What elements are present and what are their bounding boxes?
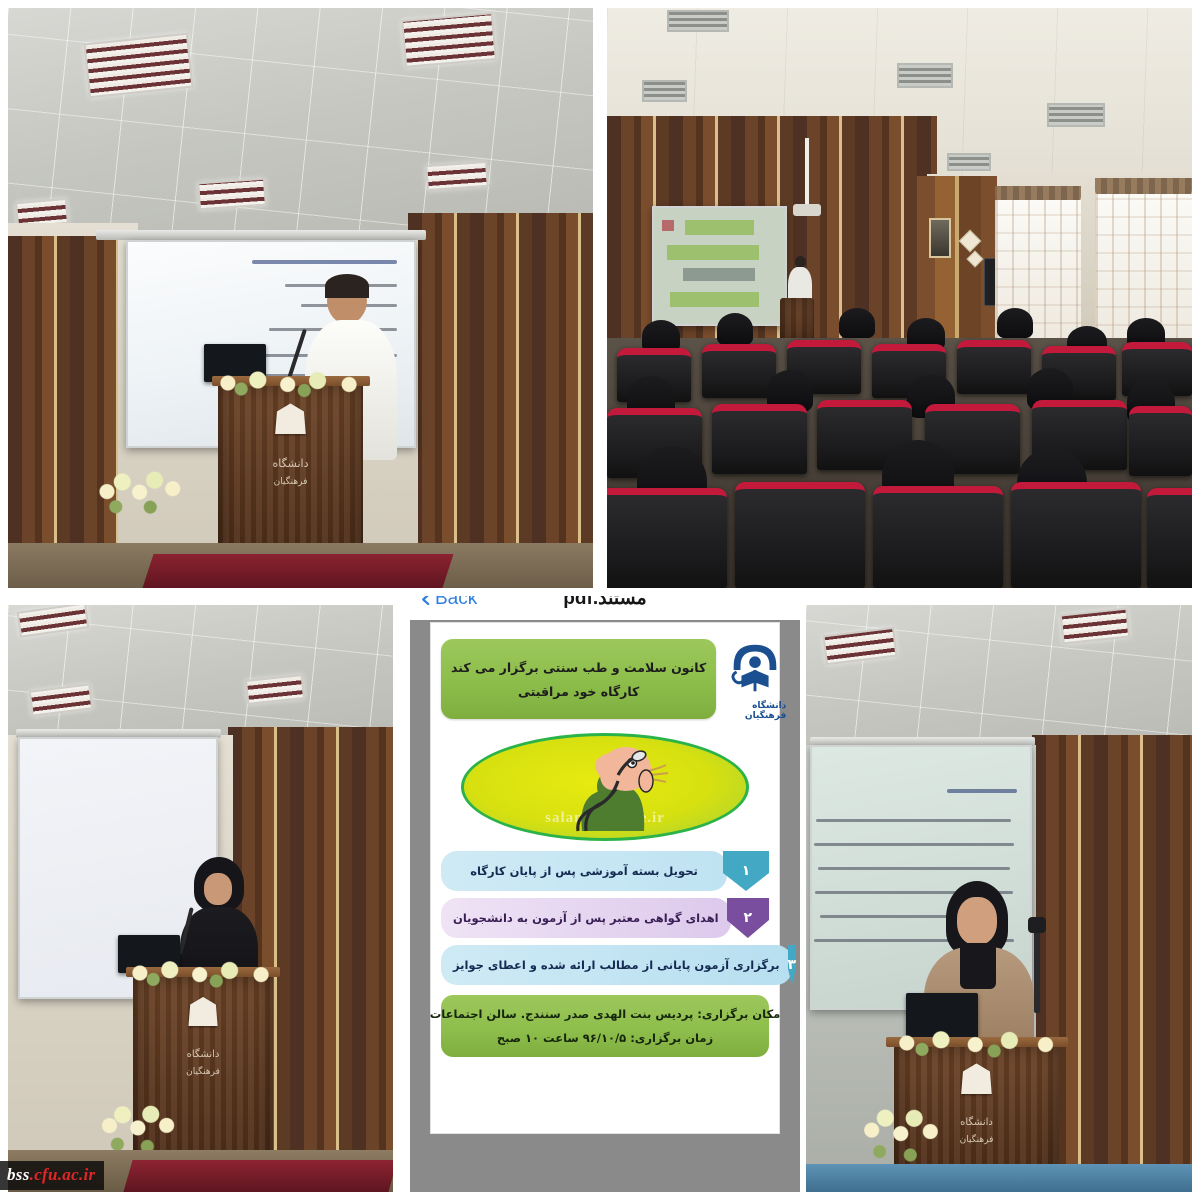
speaker-scarf [960, 943, 996, 989]
auditorium-seat [1147, 488, 1192, 588]
poster-title-line-1: کانون سلامت و طب سنتی برگزار می کند [451, 660, 706, 675]
microphone-head [1028, 917, 1046, 933]
step-number: ۱ [723, 851, 769, 891]
microphone-stand [1034, 925, 1040, 1013]
slide-heading [947, 789, 1017, 793]
flower-arrangement [120, 957, 286, 989]
poster-footer-box: مکان برگزاری: پردیس بنت الهدی صدر سنندج.… [441, 995, 769, 1057]
flower-arrangement [884, 1027, 1074, 1059]
auditorium-seat [873, 486, 1003, 588]
step-text: اهدای گواهی معتبر پس از آزمون به دانشجوی… [441, 898, 731, 938]
audience-person [997, 308, 1033, 338]
auditorium-seat [1011, 482, 1141, 588]
poster-title-line-2: کارگاه خود مراقبتی [518, 684, 639, 699]
slide-block [667, 245, 759, 260]
photo-audience-hall [607, 8, 1192, 588]
watermark-suffix: .cfu.ac.ir [30, 1165, 96, 1184]
framed-portrait [929, 218, 951, 258]
podium-logo-icon: ☗ [218, 399, 363, 441]
slide-block [685, 220, 753, 235]
audience-person [839, 308, 875, 338]
slide-marker [662, 220, 674, 232]
poster-title-box: کانون سلامت و طب سنتی برگزار می کند کارگ… [441, 639, 716, 719]
projection-screen [652, 206, 787, 326]
site-watermark: bss.cfu.ac.ir [0, 1161, 104, 1190]
collage-page: ☗ دانشگاه فرهنگیان [0, 0, 1200, 1200]
podium-university-text: دانشگاه [133, 1049, 273, 1060]
poster-illustration: salamatonline.ir [441, 731, 769, 843]
university-logo-caption: دانشگاه فرهنگیان [724, 701, 786, 721]
stage-floor [806, 1164, 1192, 1192]
poster-datetime: زمان برگزاری: ۹۶/۱۰/۵ ساعت ۱۰ صبح [497, 1031, 713, 1045]
auditorium-seat [712, 404, 807, 474]
auditorium-seat [1129, 406, 1192, 476]
speaker-face [957, 897, 997, 945]
auditorium-seat [702, 344, 776, 398]
slide-text-line [814, 843, 1014, 846]
auditorium-seat [957, 340, 1031, 394]
step-number: ۲ [727, 898, 769, 938]
poster-header-row: کانون سلامت و طب سنتی برگزار می کند کارگ… [441, 633, 769, 725]
university-logo-block: دانشگاه فرهنگیان [724, 637, 786, 721]
farhangian-university-logo-icon [724, 637, 786, 699]
viewer-top-bar: Back pdf.مستند [410, 596, 800, 620]
podium-university-text: دانشگاه [218, 457, 363, 470]
watermark-prefix: bss [7, 1165, 30, 1184]
speaker-face [204, 873, 232, 905]
ceiling-vent-icon [947, 153, 991, 171]
poster-steps-list: تحویل بسته آموزشی پس از پایان کارگاه ۱ ا… [441, 851, 769, 985]
slide-block [683, 268, 755, 281]
flower-arrangement [92, 444, 190, 533]
chevron-left-icon [420, 596, 431, 605]
pdf-document-page[interactable]: کانون سلامت و طب سنتی برگزار می کند کارگ… [430, 622, 780, 1134]
slide-block [670, 292, 759, 307]
slide-text-line [818, 867, 1010, 870]
cartoon-man-stethoscope-icon [520, 735, 690, 839]
viewer-title: pdf.مستند [563, 596, 646, 610]
ceiling-vent-icon [667, 10, 729, 32]
ceiling-light-icon [83, 33, 193, 99]
wood-wall-upper [607, 116, 937, 174]
ceiling-vent-icon [642, 80, 687, 102]
ceiling-light-icon [197, 178, 267, 211]
screen-roller [96, 230, 426, 240]
back-button[interactable]: Back [420, 596, 477, 610]
ceiling-vent-icon [1047, 103, 1105, 127]
back-label: Back [435, 596, 477, 610]
poster-step: اهدای گواهی معتبر پس از آزمون به دانشجوی… [441, 898, 769, 938]
speaker-hair [325, 274, 369, 298]
auditorium-seat [735, 482, 865, 588]
projector-mount [805, 138, 809, 208]
flower-arrangement [208, 368, 374, 398]
wood-wall-left [8, 236, 126, 588]
red-carpet [142, 554, 453, 588]
poster-step: برگزاری آزمون پایانی از مطالب ارائه شده … [441, 945, 769, 985]
ceiling-light-icon [401, 12, 497, 68]
photo-female-speaker-blank-screen: ☗ دانشگاه فرهنگیان [8, 605, 393, 1192]
auditorium-seat [607, 488, 727, 588]
wood-wall-right [408, 213, 593, 588]
slide-text-line [816, 819, 1011, 822]
step-text: تحویل بسته آموزشی پس از پایان کارگاه [441, 851, 727, 891]
podium-logo-icon: ☗ [133, 993, 273, 1033]
slide-heading [252, 260, 397, 264]
audience-person [717, 313, 753, 345]
podium-university-subtext: فرهنگیان [218, 477, 363, 487]
projector [793, 204, 821, 216]
pdf-viewer-panel: Back pdf.مستند کانون سلامت و طب سنتی برگ… [410, 596, 800, 1192]
red-carpet [123, 1160, 393, 1192]
ceiling-vent-icon [897, 63, 953, 88]
poster-step: تحویل بسته آموزشی پس از پایان کارگاه ۱ [441, 851, 769, 891]
ceiling-light-icon [425, 161, 489, 191]
poster-venue: مکان برگزاری: پردیس بنت الهدی صدر سنندج.… [430, 1007, 781, 1021]
photo-female-speaker-slide: ☗ دانشگاه فرهنگیان [806, 605, 1192, 1192]
step-text: برگزاری آزمون پایانی از مطالب ارائه شده … [441, 945, 792, 985]
step-number: ۳ [788, 945, 797, 985]
photo-male-speaker-podium: ☗ دانشگاه فرهنگیان [8, 8, 593, 588]
